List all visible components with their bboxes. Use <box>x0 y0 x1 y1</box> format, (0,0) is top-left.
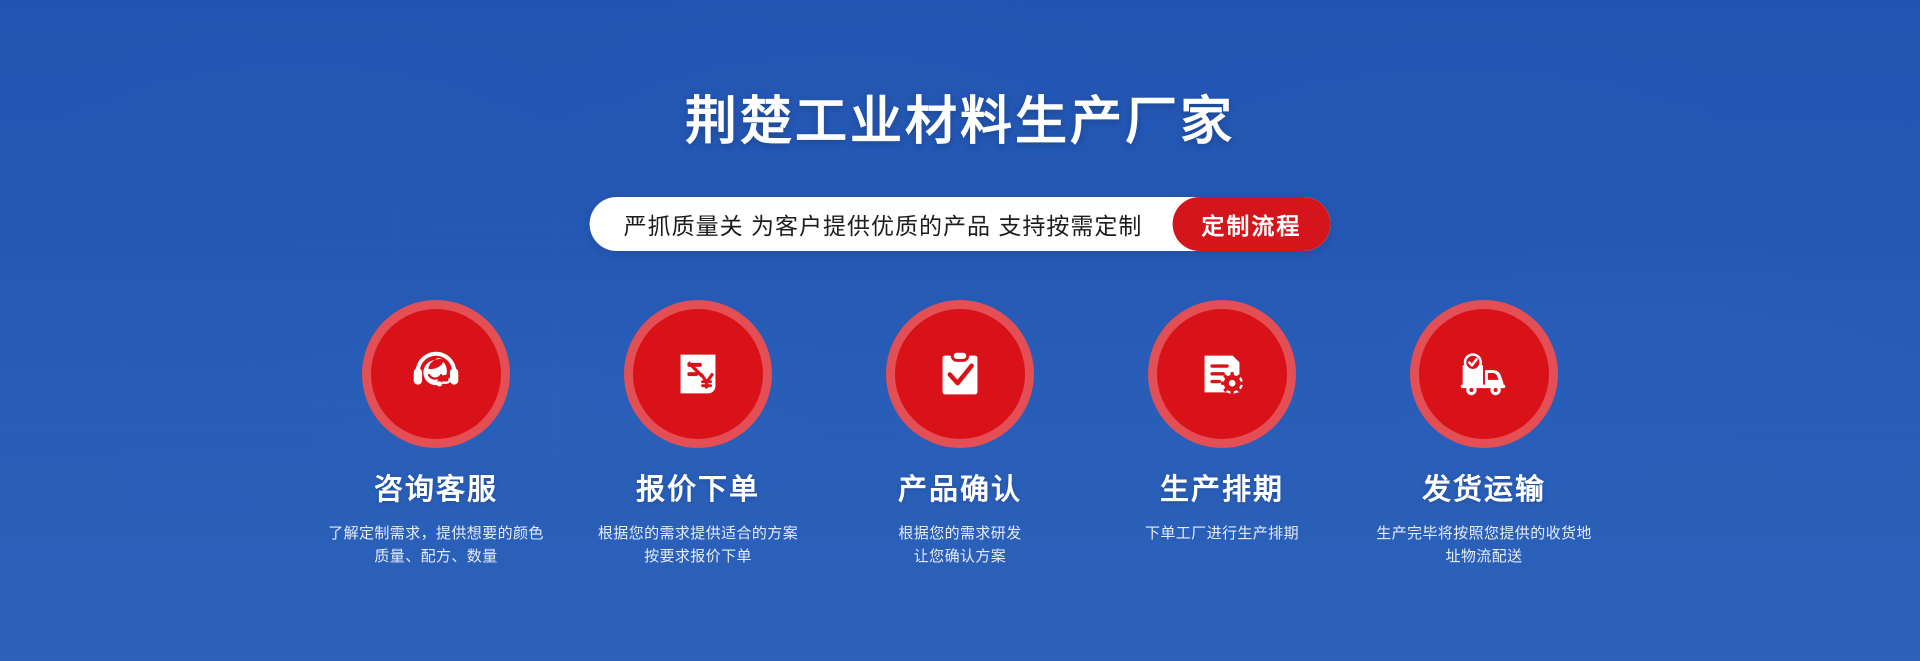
step-description: 根据您的需求提供适合的方案 按要求报价下单 <box>598 522 798 569</box>
step-description-line2: 质量、配方、数量 <box>328 545 544 568</box>
step-item-production-schedule: 生产排期 下单工厂进行生产排期 <box>1091 300 1353 569</box>
step-description-line1: 根据您的需求提供适合的方案 <box>598 522 798 545</box>
banner-content: 荆楚工业材料生产厂家 严抓质量关 为客户提供优质的产品 支持按需定制 定制流程 <box>0 0 1920 661</box>
step-item-consult: 咨询客服 了解定制需求，提供想要的颜色 质量、配方、数量 <box>305 300 567 569</box>
step-title: 生产排期 <box>1160 476 1284 505</box>
step-description-line2: 按要求报价下单 <box>598 545 798 568</box>
subheadline-pill: 严抓质量关 为客户提供优质的产品 支持按需定制 定制流程 <box>590 197 1331 251</box>
step-title: 发货运输 <box>1422 476 1546 505</box>
step-description-line1: 下单工厂进行生产排期 <box>1145 522 1299 545</box>
step-title: 产品确认 <box>898 476 1022 505</box>
step-description-line1: 了解定制需求，提供想要的颜色 <box>328 522 544 545</box>
invoice-yuan-icon <box>667 343 729 405</box>
clipboard-check-icon <box>929 343 991 405</box>
step-icon-circle-quote-order[interactable] <box>624 300 772 448</box>
step-description: 下单工厂进行生产排期 <box>1145 522 1299 545</box>
process-steps: 咨询客服 了解定制需求，提供想要的颜色 质量、配方、数量 <box>0 300 1920 569</box>
step-description: 生产完毕将按照您提供的收货地 址物流配送 <box>1376 522 1592 569</box>
step-description-line1: 根据您的需求研发 <box>898 522 1021 545</box>
step-description: 根据您的需求研发 让您确认方案 <box>898 522 1021 569</box>
step-icon-circle-product-confirm[interactable] <box>886 300 1034 448</box>
promo-banner: 荆楚工业材料生产厂家 严抓质量关 为客户提供优质的产品 支持按需定制 定制流程 <box>0 0 1920 661</box>
step-description: 了解定制需求，提供想要的颜色 质量、配方、数量 <box>328 522 544 569</box>
step-icon-circle-production-schedule[interactable] <box>1148 300 1296 448</box>
subheadline-text: 严抓质量关 为客户提供优质的产品 支持按需定制 <box>590 197 1173 251</box>
step-description-line1: 生产完毕将按照您提供的收货地 <box>1376 522 1592 545</box>
step-title: 咨询客服 <box>374 476 498 505</box>
step-item-product-confirm: 产品确认 根据您的需求研发 让您确认方案 <box>829 300 1091 569</box>
step-description-line2: 让您确认方案 <box>898 545 1021 568</box>
delivery-truck-check-icon <box>1453 343 1515 405</box>
step-icon-circle-shipping[interactable] <box>1410 300 1558 448</box>
document-gear-icon <box>1191 343 1253 405</box>
step-icon-circle-consult[interactable] <box>362 300 510 448</box>
step-description-line2: 址物流配送 <box>1376 545 1592 568</box>
step-item-shipping: 发货运输 生产完毕将按照您提供的收货地 址物流配送 <box>1353 300 1615 569</box>
banner-headline: 荆楚工业材料生产厂家 <box>0 96 1920 148</box>
step-item-quote-order: 报价下单 根据您的需求提供适合的方案 按要求报价下单 <box>567 300 829 569</box>
custom-process-button[interactable]: 定制流程 <box>1172 197 1330 251</box>
headset-support-icon <box>405 343 467 405</box>
step-title: 报价下单 <box>636 476 760 505</box>
